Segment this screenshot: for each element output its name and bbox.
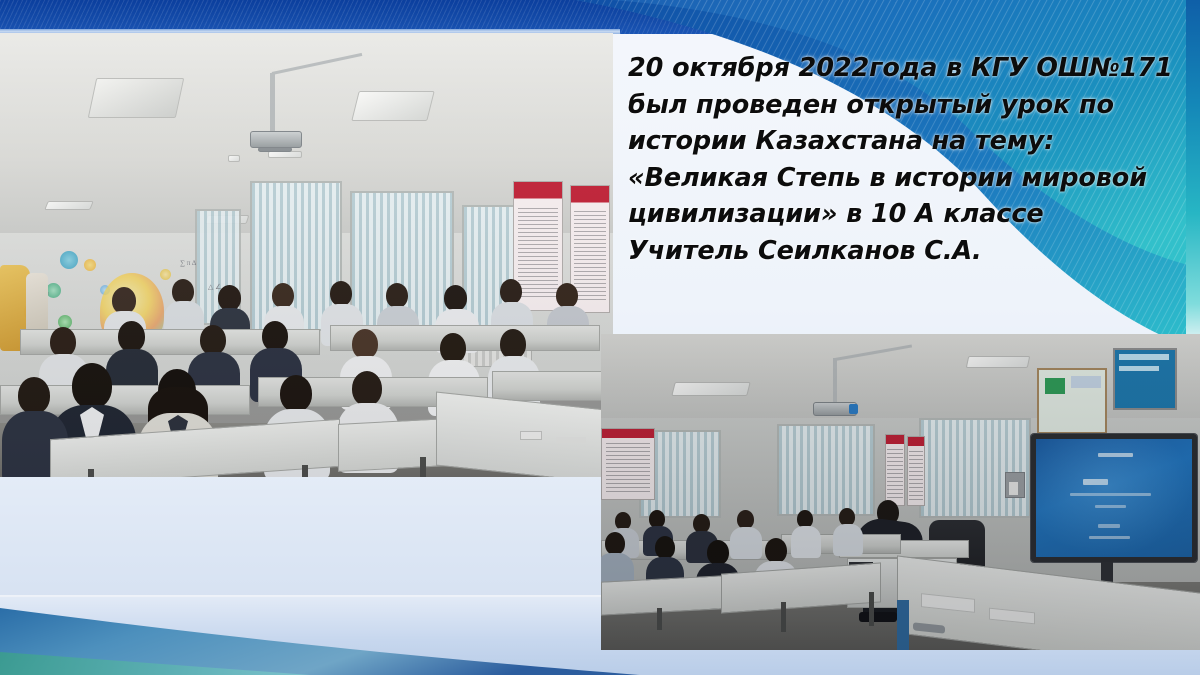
classroom-teacher-photo [601,334,1200,650]
classroom-students-photo: E=mc² ∑ π ∆ △ ∠ [0,33,613,477]
lesson-description-panel: 20 октября 2022года в КГУ ОШ№171 был про… [628,50,1188,269]
lesson-description-text: 20 октября 2022года в КГУ ОШ№171 был про… [628,50,1188,269]
slide-canvas: E=mc² ∑ π ∆ △ ∠ [0,0,1200,675]
right-teal-edge-strip [1186,0,1200,345]
